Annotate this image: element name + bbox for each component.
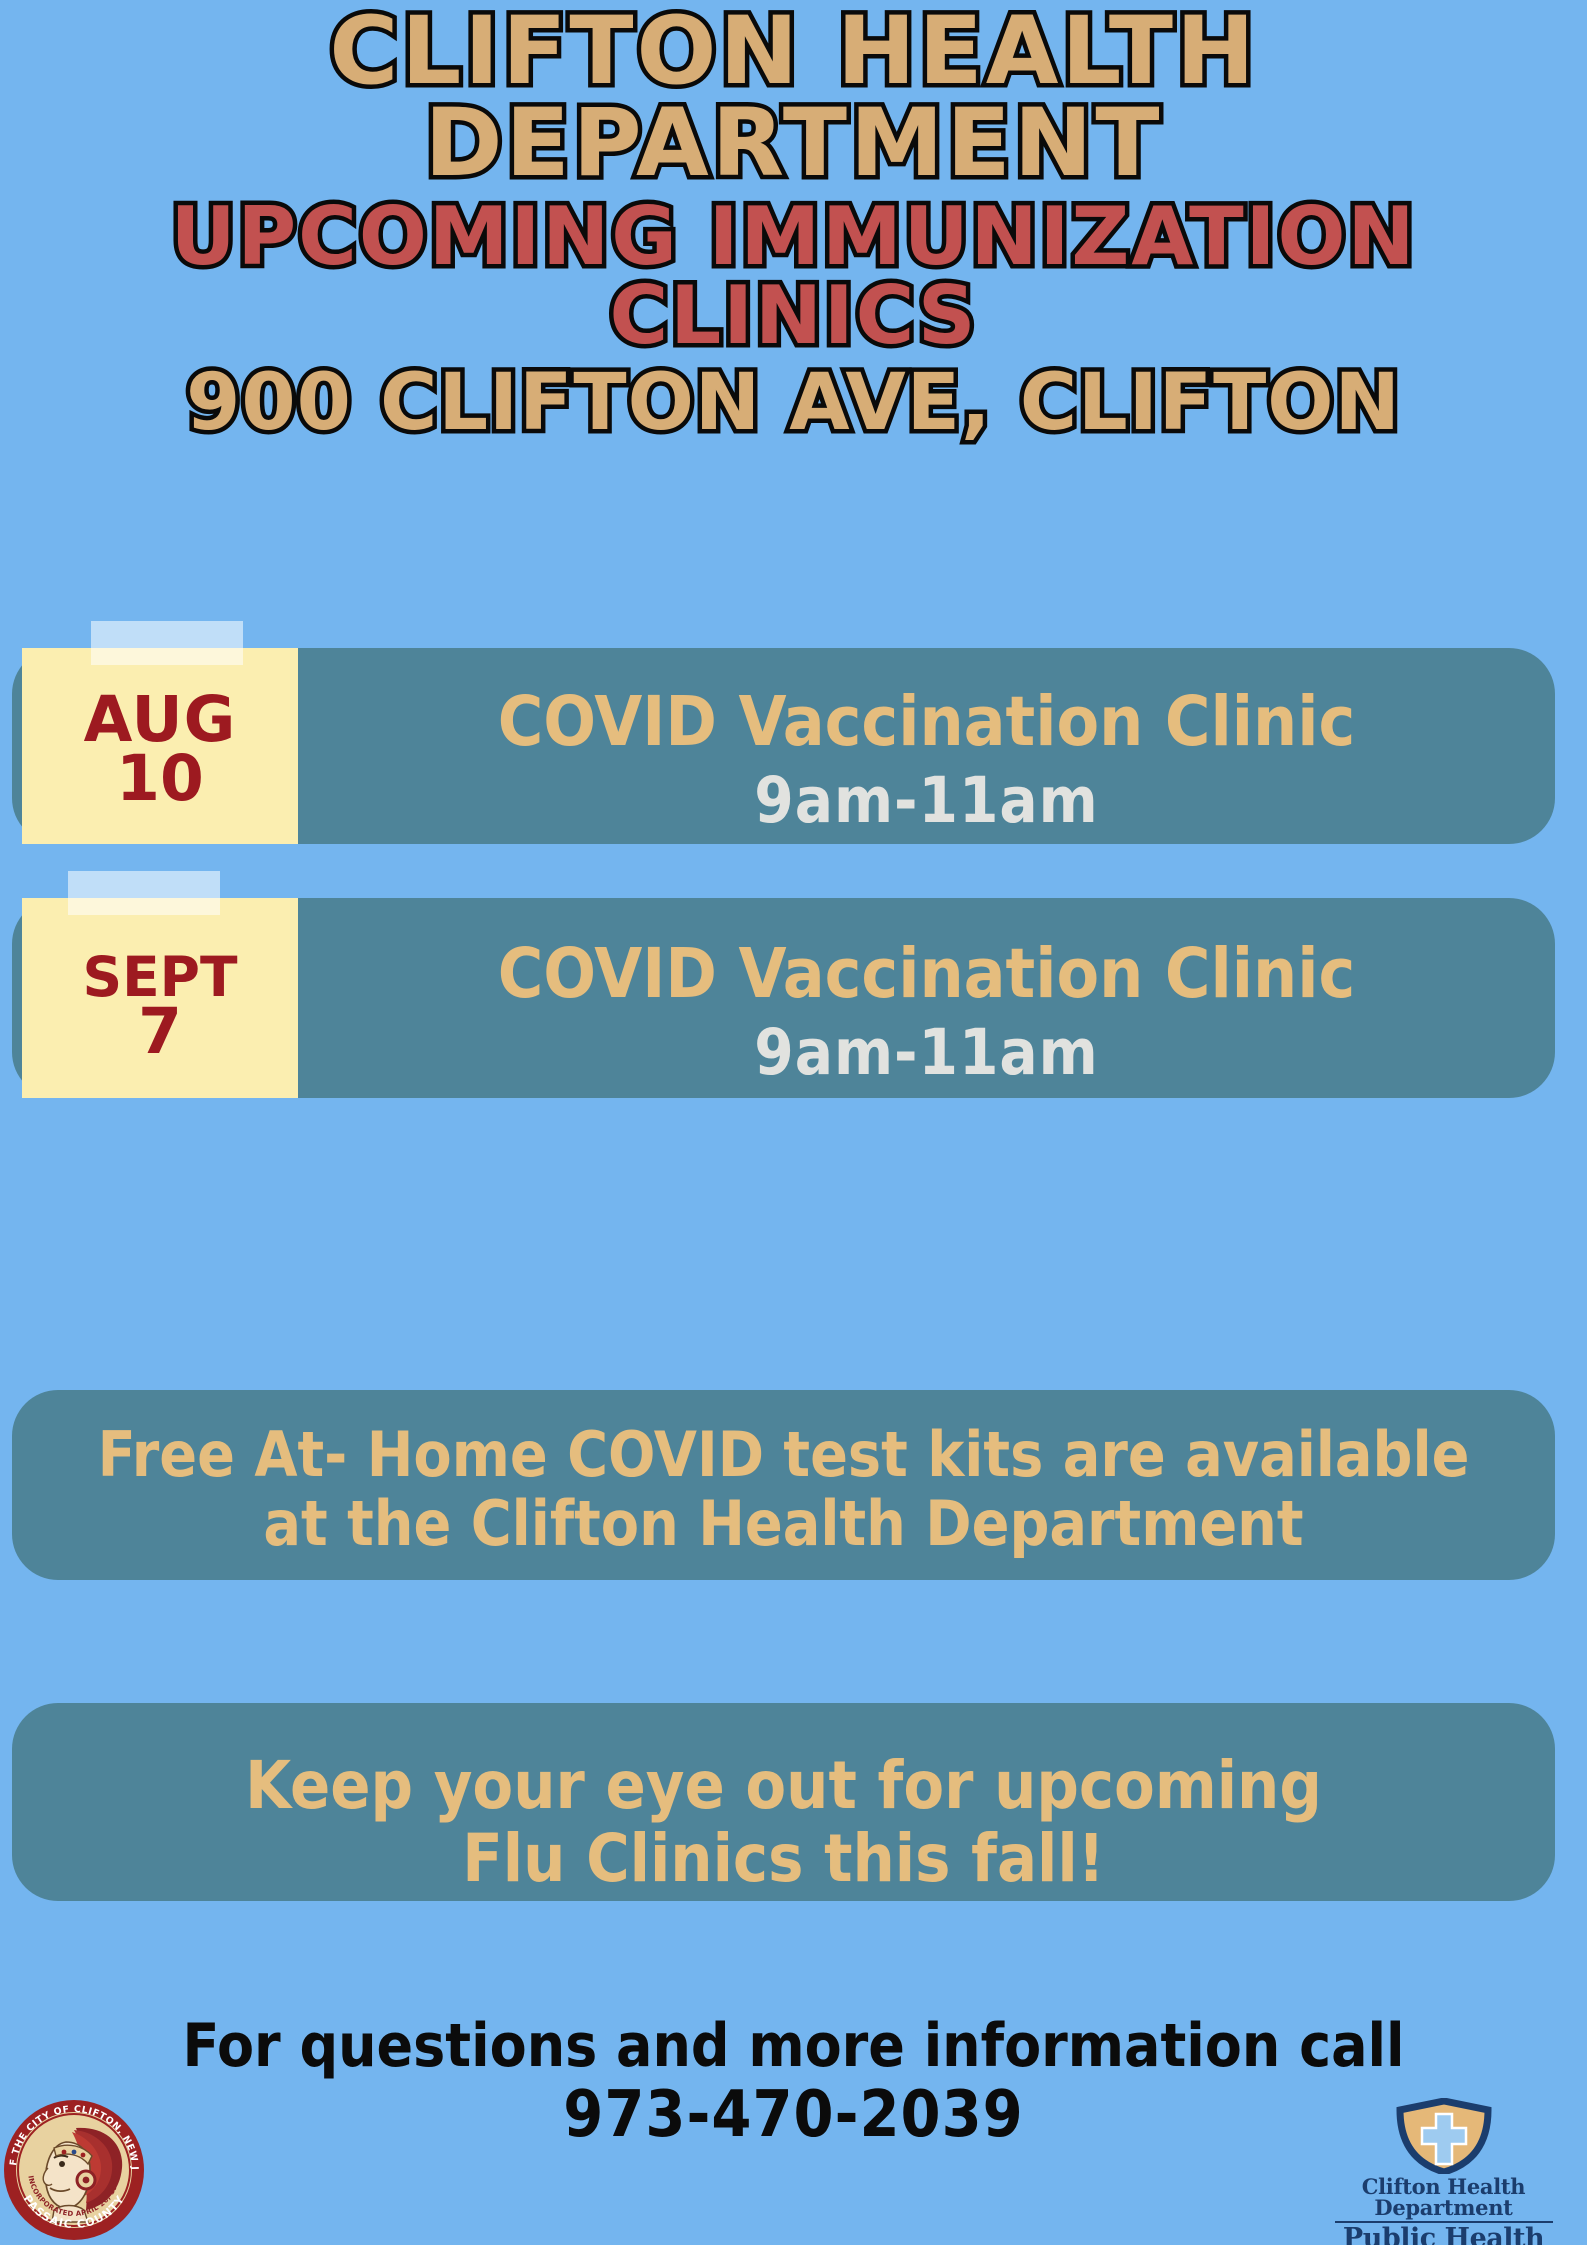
date-note-sept-text: SEPT 7 — [22, 954, 298, 1059]
flu-clinics-text: Keep your eye out for upcoming Flu Clini… — [12, 1750, 1555, 1895]
poster-subtitle-line2: CLINICS — [0, 277, 1587, 359]
poster-subtitle-line1: UPCOMING IMMUNIZATION — [0, 196, 1587, 276]
clifton-health-department-logo: Clifton Health Department Public Health … — [1300, 2098, 1587, 2245]
health-logo-public-health: Public Health — [1300, 2225, 1587, 2245]
flu-clinics-line2: Flu Clinics this fall! — [12, 1823, 1555, 1896]
health-logo-name: Clifton Health Department — [1300, 2174, 1587, 2218]
date-note-aug: AUG 10 — [22, 648, 298, 844]
date-note-aug-text: AUG 10 — [22, 694, 298, 806]
city-of-clifton-seal-icon: SEAL OF THE CITY OF CLIFTON, NEW JERSEY … — [2, 2098, 146, 2242]
clinic-info-sept: COVID Vaccination Clinic 9am-11am — [298, 940, 1555, 1084]
test-kits-text: Free At- Home COVID test kits are availa… — [12, 1420, 1555, 1559]
clinic-title-sept: COVID Vaccination Clinic — [298, 940, 1555, 1009]
poster-root: CLIFTON HEALTH DEPARTMENT UPCOMING IMMUN… — [0, 0, 1587, 2245]
poster-title-line1: CLIFTON HEALTH — [0, 4, 1587, 98]
date-note-sept-day: 7 — [22, 1006, 298, 1059]
test-kits-line2: at the Clifton Health Department — [12, 1489, 1555, 1558]
date-note-sept: SEPT 7 — [22, 898, 298, 1098]
clinic-time-sept: 9am-11am — [298, 1021, 1555, 1084]
test-kits-line1: Free At- Home COVID test kits are availa… — [12, 1420, 1555, 1489]
clinic-time-aug: 9am-11am — [298, 769, 1555, 832]
tape-strip-sept — [68, 871, 220, 915]
date-note-sept-month: SEPT — [22, 954, 298, 1000]
poster-address: 900 CLIFTON AVE, CLIFTON — [0, 359, 1587, 441]
shield-wrap — [1300, 2098, 1587, 2174]
tape-strip-aug — [91, 621, 243, 665]
date-note-aug-month: AUG — [22, 694, 298, 747]
poster-header: CLIFTON HEALTH DEPARTMENT UPCOMING IMMUN… — [0, 0, 1587, 441]
clinic-info-aug: COVID Vaccination Clinic 9am-11am — [298, 688, 1555, 832]
health-shield-cross-icon — [1396, 2098, 1492, 2174]
poster-title-line2: DEPARTMENT — [0, 98, 1587, 196]
footer-contact-line: For questions and more information call — [0, 2013, 1587, 2080]
clinic-title-aug: COVID Vaccination Clinic — [298, 688, 1555, 757]
date-note-aug-day: 10 — [22, 753, 298, 806]
flu-clinics-line1: Keep your eye out for upcoming — [12, 1750, 1555, 1823]
